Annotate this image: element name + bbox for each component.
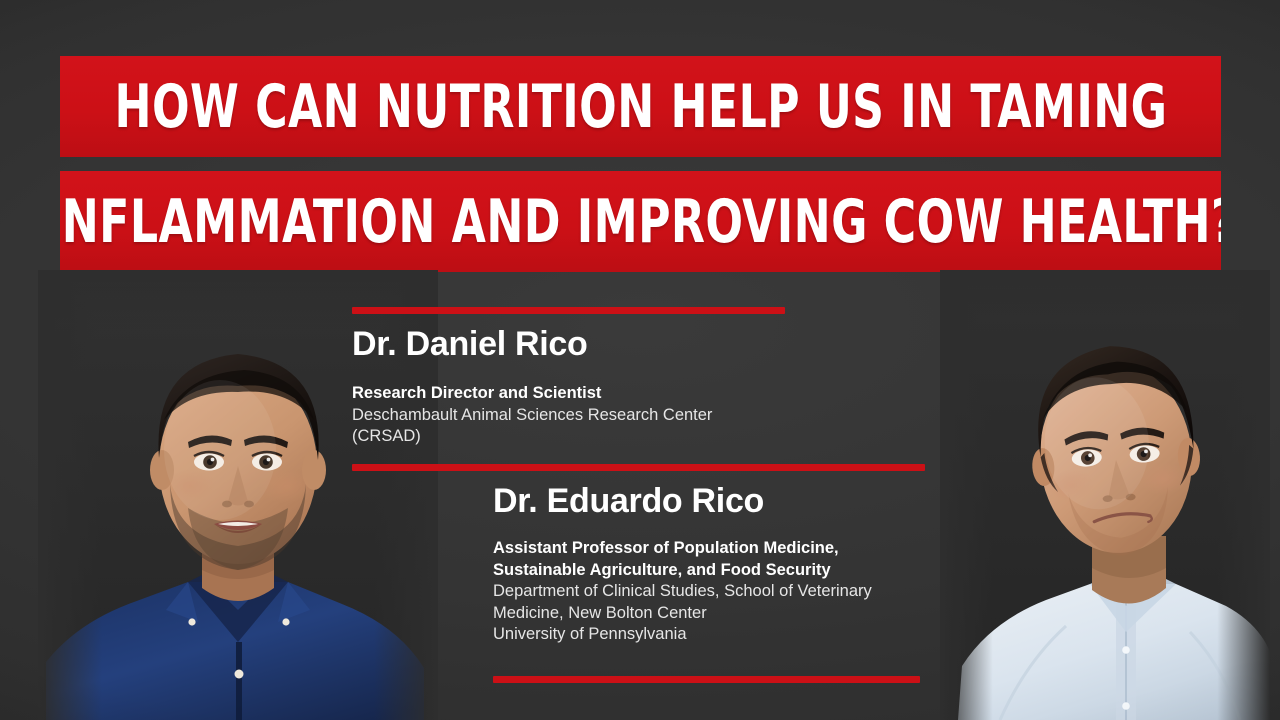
- speaker-1-details: Research Director and Scientist Deschamb…: [352, 383, 712, 448]
- portrait-eduardo-rico: [940, 270, 1270, 720]
- speaker-2-affiliation-line-1: Department of Clinical Studies, School o…: [493, 581, 872, 603]
- speaker-1-affiliation-line-2: (CRSAD): [352, 426, 712, 448]
- speaker-2-details: Assistant Professor of Population Medici…: [493, 538, 872, 646]
- speaker-1-affiliation-line-1: Deschambault Animal Sciences Research Ce…: [352, 405, 712, 427]
- title-banner-line-1: HOW CAN NUTRITION HELP US IN TAMING: [60, 56, 1221, 157]
- portrait-eduardo-rico-image: [940, 270, 1270, 720]
- speaker-2-rule-bottom: [493, 676, 920, 683]
- title-banner-line-2: INFLAMMATION AND IMPROVING COW HEALTH?: [60, 171, 1221, 272]
- speaker-1-role: Research Director and Scientist: [352, 383, 712, 405]
- speaker-2-affiliation-line-2: Medicine, New Bolton Center: [493, 603, 872, 625]
- speaker-2-name: Dr. Eduardo Rico: [493, 483, 764, 520]
- speaker-2-affiliation-line-3: University of Pennsylvania: [493, 624, 872, 646]
- title-line-1-text: HOW CAN NUTRITION HELP US IN TAMING: [114, 77, 1167, 137]
- speaker-1-rule-top: [352, 307, 785, 314]
- speaker-2-role-line-1: Assistant Professor of Population Medici…: [493, 538, 872, 560]
- webinar-title-card: HOW CAN NUTRITION HELP US IN TAMING INFL…: [0, 0, 1280, 720]
- speaker-1-name: Dr. Daniel Rico: [352, 326, 587, 363]
- speaker-2-role-line-2: Sustainable Agriculture, and Food Securi…: [493, 560, 872, 582]
- title-line-2-text: INFLAMMATION AND IMPROVING COW HEALTH?: [60, 192, 1221, 252]
- speaker-1-rule-bottom: [352, 464, 925, 471]
